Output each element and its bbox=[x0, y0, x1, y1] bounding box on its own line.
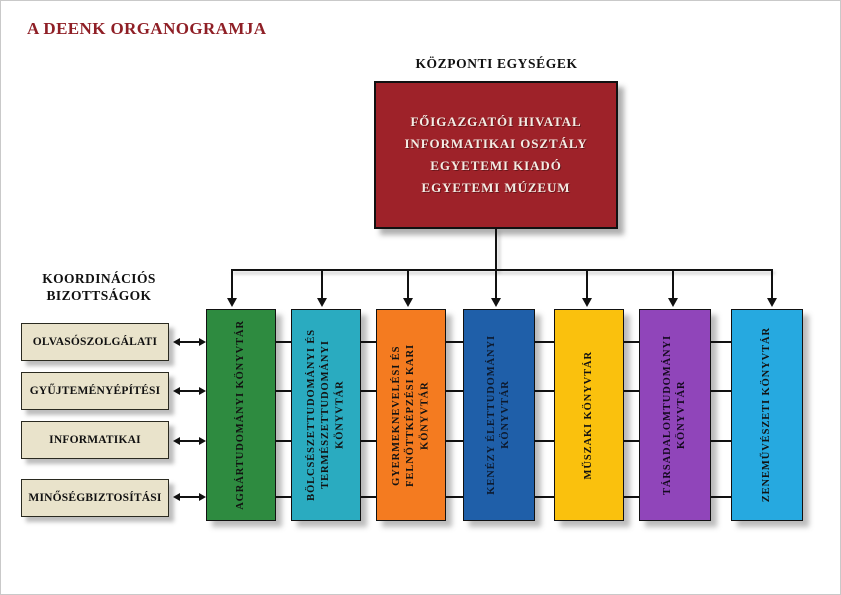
arrow-right-icon bbox=[199, 437, 206, 445]
connector-inter-column bbox=[361, 496, 377, 498]
coordination-committees-heading: KOORDINÁCIÓS BIZOTTSÁGOK bbox=[19, 271, 179, 305]
central-unit-item: EGYETEMI KIADÓ bbox=[430, 156, 561, 176]
connector-inter-column bbox=[624, 496, 640, 498]
connector-inter-column bbox=[446, 440, 464, 442]
committee-box-minosegbiztositasi[interactable]: MINŐSÉGBIZTOSÍTÁSI bbox=[21, 479, 169, 517]
central-unit-item: INFORMATIKAI OSZTÁLY bbox=[404, 134, 587, 154]
arrow-down-icon bbox=[491, 298, 501, 307]
committees-heading-line-1: KOORDINÁCIÓS bbox=[19, 271, 179, 288]
arrow-down-icon bbox=[403, 298, 413, 307]
library-column-label: MŰSZAKI KÖNYVTÁR bbox=[582, 351, 596, 479]
connector-inter-column bbox=[535, 341, 555, 343]
arrow-down-icon bbox=[582, 298, 592, 307]
connector-committee-link bbox=[179, 341, 201, 343]
arrow-down-icon bbox=[317, 298, 327, 307]
committee-box-olvasoszolgalati[interactable]: OLVASÓSZOLGÁLATI bbox=[21, 323, 169, 361]
connector-drop-line bbox=[321, 269, 323, 299]
committee-box-informatikai[interactable]: INFORMATIKAI bbox=[21, 421, 169, 459]
connector-drop-line bbox=[495, 269, 497, 299]
connector-inter-column bbox=[276, 341, 292, 343]
connector-drop-line bbox=[231, 269, 233, 299]
library-column-tarsadalomtudomanyi[interactable]: TÁRSADALOMTUDOMÁNYI KÖNYVTÁR bbox=[639, 309, 711, 521]
connector-drop-line bbox=[407, 269, 409, 299]
connector-drop-line bbox=[672, 269, 674, 299]
central-units-box: FŐIGAZGATÓI HIVATAL INFORMATIKAI OSZTÁLY… bbox=[374, 81, 618, 229]
connector-drop-line bbox=[586, 269, 588, 299]
connector-inter-column bbox=[535, 496, 555, 498]
arrow-right-icon bbox=[199, 338, 206, 346]
library-column-bolcseszet-termeszettudomanyi[interactable]: BÖLCSÉSZETTUDOMÁNYI ÉS TERMÉSZETTUDOMÁNY… bbox=[291, 309, 361, 521]
connector-inter-column bbox=[711, 390, 732, 392]
connector-inter-column bbox=[711, 440, 732, 442]
connector-inter-column bbox=[535, 390, 555, 392]
committees-heading-line-2: BIZOTTSÁGOK bbox=[19, 288, 179, 305]
connector-inter-column bbox=[446, 496, 464, 498]
connector-inter-column bbox=[711, 496, 732, 498]
library-column-muszaki[interactable]: MŰSZAKI KÖNYVTÁR bbox=[554, 309, 624, 521]
connector-inter-column bbox=[446, 390, 464, 392]
arrow-right-icon bbox=[199, 387, 206, 395]
library-column-zenemuveszeti[interactable]: ZENEMŰVÉSZETI KÖNYVTÁR bbox=[731, 309, 803, 521]
connector-committee-link bbox=[179, 390, 201, 392]
connector-inter-column bbox=[361, 390, 377, 392]
connector-inter-column bbox=[446, 341, 464, 343]
organogram-canvas: A DEENK ORGANOGRAMJA KÖZPONTI EGYSÉGEK F… bbox=[0, 0, 841, 595]
arrow-down-icon bbox=[227, 298, 237, 307]
connector-central-stem bbox=[495, 229, 497, 271]
page-title: A DEENK ORGANOGRAMJA bbox=[27, 19, 266, 39]
arrow-down-icon bbox=[767, 298, 777, 307]
library-column-label: BÖLCSÉSZETTUDOMÁNYI ÉS TERMÉSZETTUDOMÁNY… bbox=[305, 329, 348, 501]
central-units-heading: KÖZPONTI EGYSÉGEK bbox=[374, 56, 619, 72]
library-column-label: TÁRSADALOMTUDOMÁNYI KÖNYVTÁR bbox=[661, 335, 689, 495]
central-unit-item: FŐIGAZGATÓI HIVATAL bbox=[410, 112, 581, 132]
library-column-agrartudomanyi[interactable]: AGRÁRTUDOMÁNYI KÖNYVTÁR bbox=[206, 309, 276, 521]
central-unit-item: EGYETEMI MÚZEUM bbox=[422, 178, 571, 198]
library-column-gyermekneveles-felnottkepzes[interactable]: GYERMEKNEVELÉSI ÉS FELNŐTTKÉPZÉSI KARI K… bbox=[376, 309, 446, 521]
arrow-down-icon bbox=[668, 298, 678, 307]
connector-drop-line bbox=[771, 269, 773, 299]
connector-inter-column bbox=[624, 390, 640, 392]
library-column-label: AGRÁRTUDOMÁNYI KÖNYVTÁR bbox=[234, 320, 248, 510]
connector-distribution-bar bbox=[231, 269, 773, 271]
library-column-label: GYERMEKNEVELÉSI ÉS FELNŐTTKÉPZÉSI KARI K… bbox=[390, 344, 433, 487]
connector-inter-column bbox=[535, 440, 555, 442]
connector-inter-column bbox=[361, 440, 377, 442]
library-column-label: KENÉZY ÉLETTUDOMÁNYI KÖNYVTÁR bbox=[485, 335, 513, 495]
connector-committee-link bbox=[179, 496, 201, 498]
committee-box-gyujtemenyepitesi[interactable]: GYŰJTEMÉNYÉPÍTÉSI bbox=[21, 372, 169, 410]
connector-committee-link bbox=[179, 440, 201, 442]
arrow-right-icon bbox=[199, 493, 206, 501]
connector-inter-column bbox=[624, 341, 640, 343]
connector-inter-column bbox=[276, 390, 292, 392]
connector-inter-column bbox=[361, 341, 377, 343]
connector-inter-column bbox=[711, 341, 732, 343]
connector-inter-column bbox=[276, 440, 292, 442]
connector-inter-column bbox=[624, 440, 640, 442]
library-column-kenezy-elettudomanyi[interactable]: KENÉZY ÉLETTUDOMÁNYI KÖNYVTÁR bbox=[463, 309, 535, 521]
connector-inter-column bbox=[276, 496, 292, 498]
library-column-label: ZENEMŰVÉSZETI KÖNYVTÁR bbox=[760, 327, 774, 502]
